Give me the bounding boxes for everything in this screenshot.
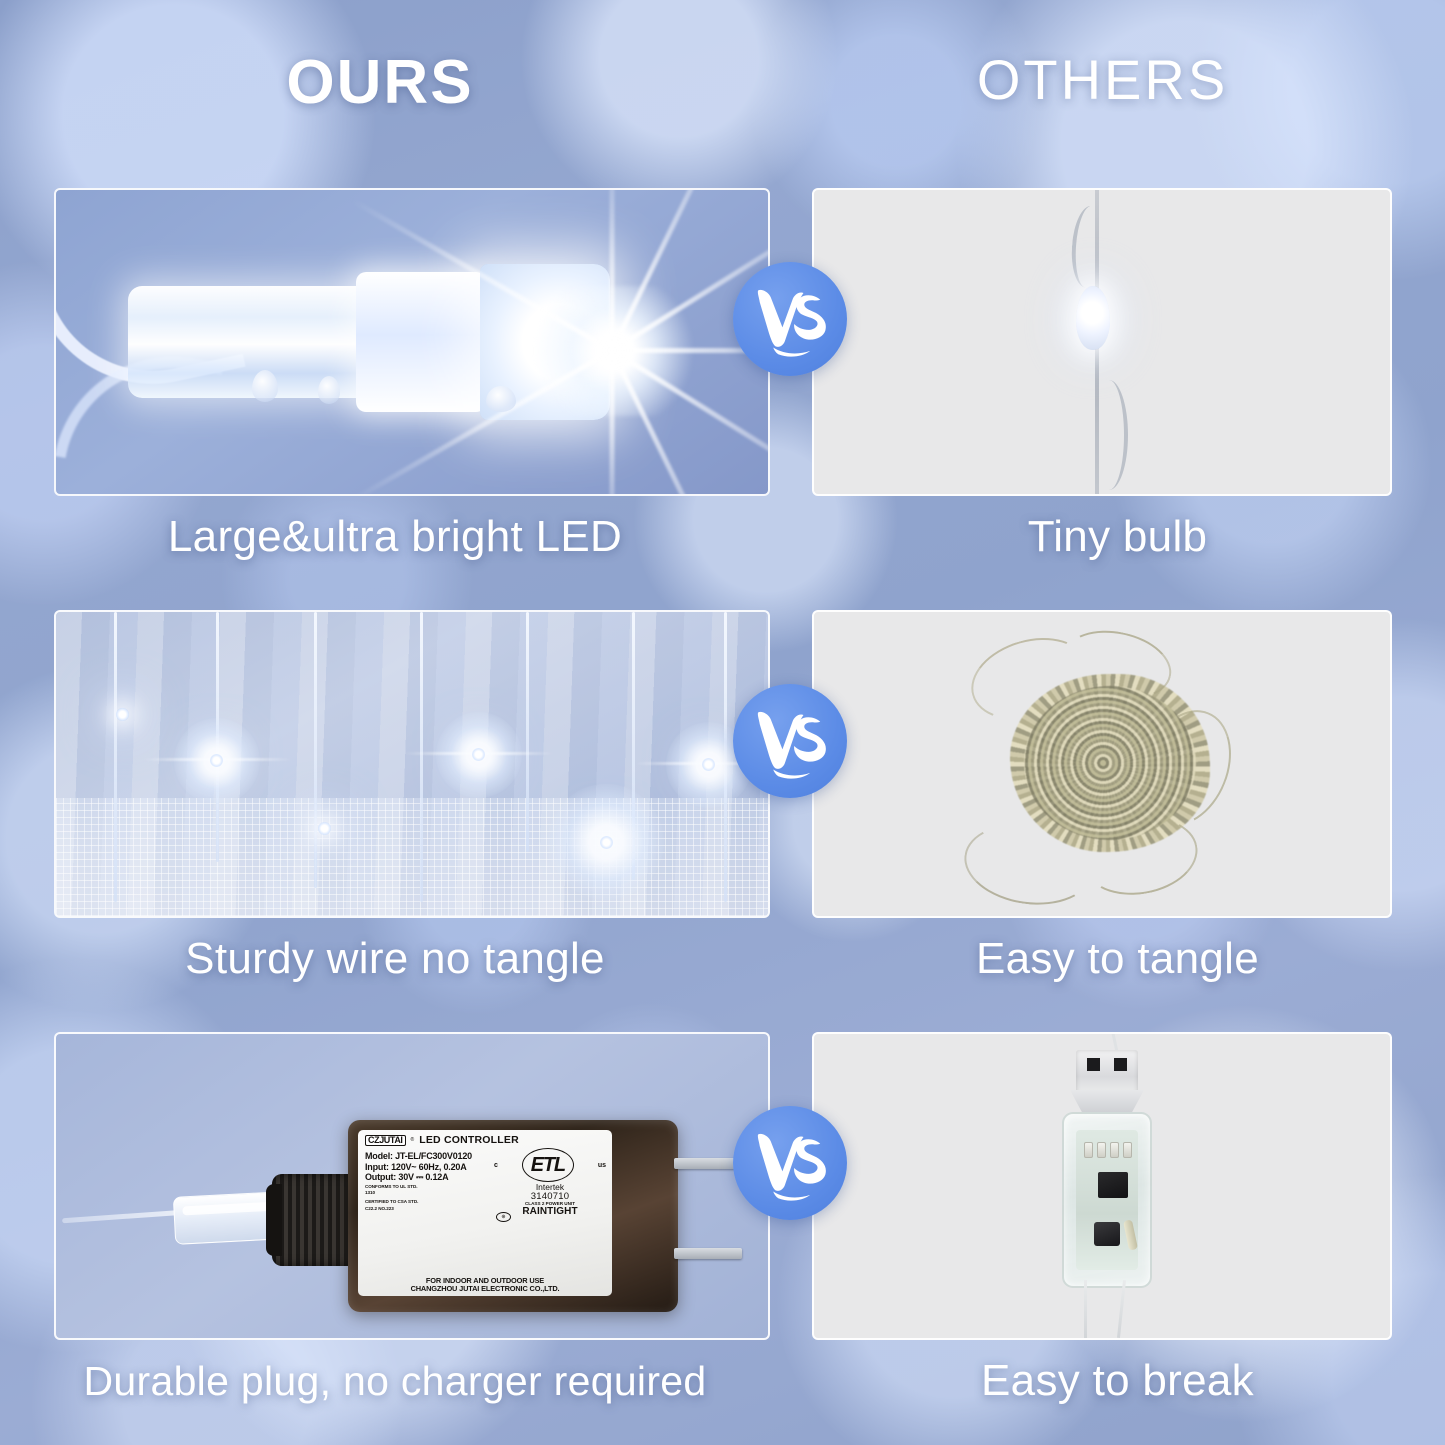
label-header-row: CZJUTAI ® LED CONTROLLER — [365, 1135, 606, 1146]
led-bulb-neck — [356, 272, 486, 412]
ic-chip — [1098, 1172, 1128, 1198]
others-image-panel-2 — [812, 610, 1392, 918]
usb-neck — [1070, 1090, 1144, 1112]
column-title-ours: OURS — [0, 52, 760, 114]
label-footer: FOR INDOOR AND OUTDOOR USE CHANGZHOU JUT… — [358, 1277, 612, 1294]
etl-prefix-c: c — [494, 1162, 498, 1169]
ours-image-panel-1 — [54, 188, 770, 496]
vs-badge-1 — [733, 262, 847, 376]
plug-prong — [674, 1248, 742, 1259]
light-strand — [114, 612, 117, 902]
etl-mark-row: c ETL us — [494, 1148, 606, 1182]
comparison-infographic: OURS OTHERS — [0, 0, 1445, 1445]
resistor — [1097, 1142, 1106, 1158]
vs-badge-3 — [733, 1106, 847, 1220]
ours-image-panel-2 — [54, 610, 770, 918]
resistor — [1110, 1142, 1119, 1158]
ours-image-panel-3: JUTAI ELECTRONIC CZJUTAI ® LED CONTROLLE… — [54, 1032, 770, 1340]
label-left-column: Model: JT-EL/FC300V0120 Input: 120V~ 60H… — [365, 1148, 493, 1217]
label-right-column: c ETL us ⊕ Intertek 3140710 CLASS 2 POWE… — [494, 1148, 606, 1217]
lens-flare-ray — [610, 188, 615, 351]
caption-others-3: Easy to break — [790, 1346, 1445, 1416]
lead-wire — [1117, 1280, 1126, 1338]
comparison-row-1: Large&ultra bright LED Tiny bulb — [0, 188, 1445, 588]
comparison-row-2: Sturdy wire no tangle Easy to tangle — [0, 610, 1445, 1010]
water-droplet — [318, 376, 340, 404]
vs-brush-glyph — [748, 699, 832, 783]
caption-ours-1: Large&ultra bright LED — [0, 502, 790, 572]
manufacturer-line: CHANGZHOU JUTAI ELECTRONIC CO.,LTD. — [358, 1285, 612, 1294]
others-image-panel-1 — [812, 188, 1392, 496]
plug-prong — [674, 1158, 742, 1169]
vs-brush-glyph — [748, 277, 832, 361]
ul-conformance-line-2: 1310 — [365, 1190, 493, 1196]
lens-flare-ray — [610, 351, 615, 497]
led-light — [116, 708, 129, 721]
lead-wire — [1084, 1280, 1087, 1338]
model-line: Model: JT-EL/FC300V0120 — [365, 1152, 493, 1161]
output-line: Output: 30V ⎓ 0.12A — [365, 1173, 493, 1182]
led-light — [318, 822, 331, 835]
vs-badge-2 — [733, 684, 847, 798]
wire-kink — [1090, 380, 1128, 490]
caption-ours-2: Sturdy wire no tangle — [0, 924, 790, 994]
label-title: LED CONTROLLER — [419, 1135, 519, 1146]
input-line: Input: 120V~ 60Hz, 0.20A — [365, 1163, 493, 1172]
csa-certified-line-2: C22.2 NO.223 — [365, 1206, 493, 1212]
bulb-spark — [1082, 302, 1104, 324]
light-strand — [526, 612, 529, 852]
label-columns: Model: JT-EL/FC300V0120 Input: 120V~ 60H… — [365, 1148, 606, 1217]
registered-mark: ® — [411, 1138, 415, 1143]
resistor — [1084, 1142, 1093, 1158]
caption-others-2: Easy to tangle — [790, 924, 1445, 994]
others-image-panel-3 — [812, 1032, 1392, 1340]
led-light — [210, 754, 223, 767]
led-light — [472, 748, 485, 761]
light-strand — [314, 612, 317, 888]
brand-name: CZJUTAI — [365, 1135, 406, 1146]
resistor — [1123, 1142, 1132, 1158]
led-light — [600, 836, 613, 849]
adapter-rating-label: CZJUTAI ® LED CONTROLLER Model: JT-EL/FC… — [358, 1130, 612, 1296]
tactile-button — [1094, 1222, 1120, 1246]
strain-relief-knob — [272, 1174, 358, 1266]
comparison-row-3: JUTAI ELECTRONIC CZJUTAI ® LED CONTROLLE… — [0, 1032, 1445, 1432]
wire-kink — [1069, 205, 1115, 290]
etl-certification-icon: ETL — [522, 1148, 574, 1182]
water-droplet — [486, 386, 516, 412]
column-title-others: OTHERS — [760, 52, 1445, 108]
water-droplet — [252, 370, 278, 402]
vs-brush-glyph — [748, 1121, 832, 1205]
led-light — [702, 758, 715, 771]
etl-suffix-us: us — [598, 1162, 606, 1169]
light-strand — [420, 612, 423, 902]
usb-connector-icon — [1076, 1050, 1138, 1094]
caption-others-1: Tiny bulb — [790, 502, 1445, 572]
caption-ours-3: Durable plug, no charger required — [0, 1346, 790, 1416]
polarity-symbol-icon: ⊕ — [496, 1212, 511, 1222]
